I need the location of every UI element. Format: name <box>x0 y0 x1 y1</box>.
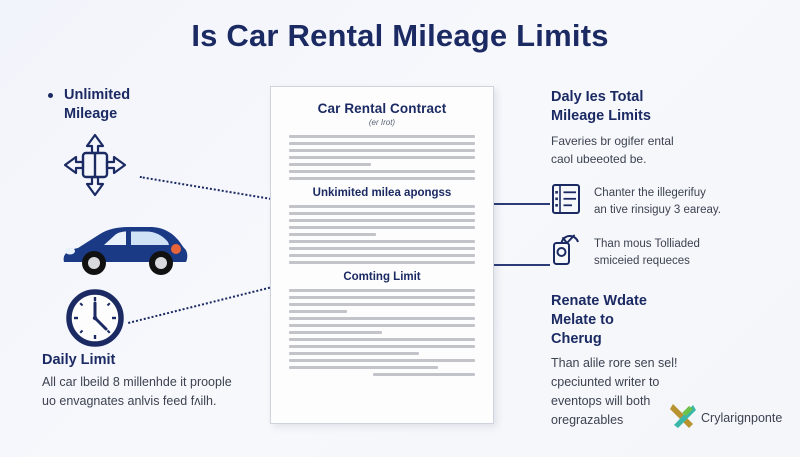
text-line <box>289 219 475 222</box>
right-section-2-body-line1: Than alile rore sen sel! <box>551 354 783 373</box>
list-item-line1: Than mous Tolliaded <box>594 236 700 253</box>
text-line <box>289 352 419 355</box>
unlimited-mileage-line2: Mileage <box>64 105 257 124</box>
daily-limit-title: Daily Limit <box>42 352 242 368</box>
text-line <box>289 170 475 173</box>
connector-unlimited-dotted <box>140 176 274 200</box>
daily-limit-body: All car lbeild 8 millenhde it proople uo… <box>42 373 242 411</box>
text-line <box>289 163 371 166</box>
x-mark-logo-icon <box>668 400 698 435</box>
unlimited-mileage-label: Unlimited Mileage <box>42 86 257 124</box>
text-line <box>289 338 475 341</box>
text-line <box>289 296 475 299</box>
left-column: Unlimited Mileage <box>42 86 257 124</box>
brand-logo: Crylarignponte <box>668 400 782 435</box>
right-body: Faveries br ogifer ental caol ubeeoted b… <box>551 132 783 168</box>
right-body-line1: Faveries br ogifer ental <box>551 132 783 150</box>
list-document-icon <box>551 183 581 215</box>
right-heading-line1: Daly Ies Total <box>551 88 783 107</box>
right-body-line2: caol ubeeoted be. <box>551 150 783 168</box>
text-line <box>289 205 475 208</box>
document-heading-limit: Comting Limit <box>289 271 475 283</box>
infographic-canvas: Is Car Rental Mileage Limits Unlimited M… <box>0 0 800 457</box>
text-line <box>289 233 376 236</box>
text-line <box>289 149 475 152</box>
text-line <box>289 226 475 229</box>
right-heading-line2: Mileage Limits <box>551 107 783 126</box>
text-line <box>289 156 475 159</box>
list-item-text: Chanter the illegerifuy an tive rinsiguy… <box>594 183 721 219</box>
four-way-arrows-icon <box>62 132 128 198</box>
text-line <box>289 135 475 138</box>
list-item-line1: Chanter the illegerifuy <box>594 185 721 202</box>
text-line <box>289 366 438 369</box>
text-line <box>289 212 475 215</box>
list-item: Chanter the illegerifuy an tive rinsiguy… <box>551 183 783 219</box>
text-line <box>289 261 475 264</box>
text-line <box>289 247 475 250</box>
brand-name: Crylarignponte <box>701 411 782 425</box>
connector-limit-solid <box>492 264 550 266</box>
document-title: Car Rental Contract <box>289 101 475 116</box>
text-line <box>289 254 475 257</box>
right-column: Daly Ies Total Mileage Limits Faveries b… <box>551 88 783 430</box>
right-section-2-title: Renate Wdate Melate to Cherug <box>551 292 783 349</box>
connector-unlimited-solid <box>492 203 550 205</box>
text-line <box>289 303 475 306</box>
unlimited-mileage-line1: Unlimited <box>64 86 257 105</box>
contract-document: Car Rental Contract (er Irot) Unkimited … <box>270 86 494 424</box>
list-item-line2: smiceied requeces <box>594 253 700 270</box>
text-line <box>289 317 475 320</box>
text-line <box>289 177 475 180</box>
text-line <box>289 240 475 243</box>
text-line <box>373 373 475 376</box>
bullet-icon <box>48 93 53 98</box>
right-section-2-title-line2: Melate to <box>551 311 783 330</box>
daily-limit-block: Daily Limit All car lbeild 8 millenhde i… <box>42 352 242 411</box>
text-line <box>289 345 475 348</box>
text-line <box>289 310 347 313</box>
right-section-2-title-line3: Cherug <box>551 330 783 349</box>
clock-icon <box>64 287 126 349</box>
right-section-2-body-line2: cpeciunted writer to <box>551 373 783 392</box>
page-title: Is Car Rental Mileage Limits <box>0 18 800 54</box>
right-section-2-title-line1: Renate Wdate <box>551 292 783 311</box>
right-heading: Daly Ies Total Mileage Limits <box>551 88 783 126</box>
text-line <box>289 324 475 327</box>
list-item: Than mous Tolliaded smiceied requeces <box>551 234 783 270</box>
text-line <box>289 142 475 145</box>
text-line <box>289 359 475 362</box>
list-item-text: Than mous Tolliaded smiceied requeces <box>594 234 700 270</box>
document-heading-unlimited: Unkimited milea apongss <box>289 187 475 199</box>
connector-daily-dotted <box>128 286 274 324</box>
document-subtitle: (er Irot) <box>289 118 475 127</box>
car-icon <box>58 218 190 280</box>
door-tag-icon <box>551 234 581 266</box>
list-item-line2: an tive rinsiguy 3 eareay. <box>594 202 721 219</box>
text-line <box>289 331 382 334</box>
text-line <box>289 289 475 292</box>
